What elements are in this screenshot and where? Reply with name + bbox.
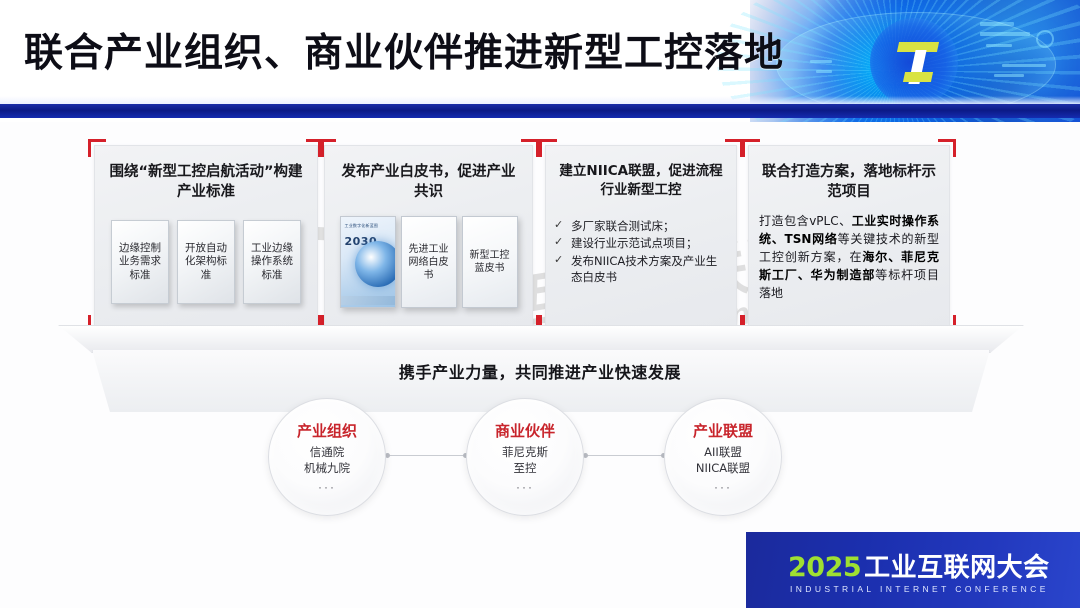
card-title: 围绕“新型工控启航活动”构建产业标准 bbox=[105, 162, 307, 202]
list-item: ✓ 建设行业示范试点项目； bbox=[554, 235, 728, 251]
corner-bracket-tl bbox=[318, 139, 336, 157]
standard-box[interactable]: 开放自动化架构标准 bbox=[177, 220, 235, 304]
circle-title: 产业组织 bbox=[297, 420, 357, 441]
conference-name-en: INDUSTRIAL INTERNET CONFERENCE bbox=[790, 584, 1049, 594]
book-item[interactable]: 新型工控蓝皮书 bbox=[462, 216, 518, 308]
globe-icon bbox=[355, 241, 396, 287]
card-title: 联合打造方案，落地标杆示范项目 bbox=[759, 162, 939, 202]
circle-line: AII联盟 bbox=[704, 445, 742, 460]
card-standards[interactable]: 围绕“新型工控启航活动”构建产业标准 边缘控制业务需求标准 开放自动化架构标准 … bbox=[94, 145, 318, 327]
book-cover-footer bbox=[341, 296, 395, 305]
list-item-label: 建设行业示范试点项目； bbox=[571, 235, 698, 251]
conference-logo: 2025 工业互联网大会 bbox=[788, 554, 1050, 581]
circle-line: 信通院 bbox=[310, 445, 345, 460]
card-demo-projects[interactable]: 联合打造方案，落地标杆示范项目 打造包含vPLC、工业实时操作系统、TSN网络等… bbox=[748, 145, 950, 327]
list-item-label: 发布NIICA技术方案及产业生态白皮书 bbox=[571, 253, 728, 286]
standard-box[interactable]: 工业边缘操作系统标准 bbox=[243, 220, 301, 304]
checklist: ✓ 多厂家联合测试床； ✓ 建设行业示范试点项目； ✓ 发布NIICA技术方案及… bbox=[554, 218, 728, 286]
circle-business-partners[interactable]: 商业伙伴 菲尼克斯 至控 ··· bbox=[466, 398, 584, 516]
check-icon: ✓ bbox=[554, 235, 565, 251]
circle-line: 至控 bbox=[514, 461, 537, 476]
corner-bracket-tr bbox=[938, 139, 956, 157]
podium-slogan: 携手产业力量，共同推进产业快速发展 bbox=[58, 359, 1022, 383]
card-title: 建立NIICA联盟，促进流程行业新型工控 bbox=[556, 162, 726, 199]
corner-bracket-tr bbox=[521, 139, 539, 157]
partner-circles: 产业组织 信通院 机械九院 ··· 商业伙伴 菲尼克斯 至控 ··· 产业联盟 … bbox=[0, 392, 1080, 532]
check-icon: ✓ bbox=[554, 253, 565, 286]
connector-line bbox=[388, 455, 466, 456]
card-title: 发布产业白皮书，促进产业共识 bbox=[335, 162, 522, 202]
circle-ellipsis: ··· bbox=[714, 480, 732, 494]
list-item: ✓ 多厂家联合测试床； bbox=[554, 218, 728, 234]
conference-name-cn: 工业互联网大会 bbox=[864, 555, 1050, 581]
book-covers: 工业数字化新蓝图 2030 先进工业网络白皮书 新型工控蓝皮书 bbox=[333, 216, 524, 308]
corner-bracket-tl bbox=[88, 139, 106, 157]
card-paragraph: 打造包含vPLC、工业实时操作系统、TSN网络等关键技术的新型工控创新方案，在海… bbox=[759, 212, 939, 302]
card-whitepapers[interactable]: 发布产业白皮书，促进产业共识 工业数字化新蓝图 2030 先进工业网络白皮书 新… bbox=[324, 145, 533, 327]
standard-box[interactable]: 边缘控制业务需求标准 bbox=[111, 220, 169, 304]
circle-line: 机械九院 bbox=[304, 461, 350, 476]
conference-year: 2025 bbox=[788, 554, 861, 581]
list-item-label: 多厂家联合测试床； bbox=[571, 218, 675, 234]
standard-boxes: 边缘控制业务需求标准 开放自动化架构标准 工业边缘操作系统标准 bbox=[105, 220, 307, 304]
check-icon: ✓ bbox=[554, 218, 565, 234]
book-item[interactable]: 先进工业网络白皮书 bbox=[401, 216, 457, 308]
book-cover-subtitle: 工业数字化新蓝图 bbox=[345, 223, 379, 229]
corner-bracket-tl bbox=[742, 139, 760, 157]
circle-industry-alliances[interactable]: 产业联盟 AII联盟 NIICA联盟 ··· bbox=[664, 398, 782, 516]
circle-title: 商业伙伴 bbox=[495, 420, 555, 441]
circle-ellipsis: ··· bbox=[318, 480, 336, 494]
circle-line: 菲尼克斯 bbox=[502, 445, 548, 460]
footer-logo-band: 2025 工业互联网大会 INDUSTRIAL INTERNET CONFERE… bbox=[746, 532, 1080, 608]
book-cover-image[interactable]: 工业数字化新蓝图 2030 bbox=[340, 216, 396, 308]
circle-title: 产业联盟 bbox=[693, 420, 753, 441]
corner-bracket-tr bbox=[725, 139, 743, 157]
circle-line: NIICA联盟 bbox=[696, 461, 750, 476]
corner-bracket-tl bbox=[539, 139, 557, 157]
card-niica-alliance[interactable]: 建立NIICA联盟，促进流程行业新型工控 ✓ 多厂家联合测试床； ✓ 建设行业示… bbox=[545, 145, 737, 327]
circle-ellipsis: ··· bbox=[516, 480, 534, 494]
connector-line bbox=[586, 455, 664, 456]
circle-industry-orgs[interactable]: 产业组织 信通院 机械九院 ··· bbox=[268, 398, 386, 516]
slide-root: 联合产业组织、商业伙伴推进新型工控落地 工业互联网联盟 Alliance of … bbox=[0, 0, 1080, 608]
podium-top-face bbox=[58, 325, 1024, 353]
list-item: ✓ 发布NIICA技术方案及产业生态白皮书 bbox=[554, 253, 728, 286]
